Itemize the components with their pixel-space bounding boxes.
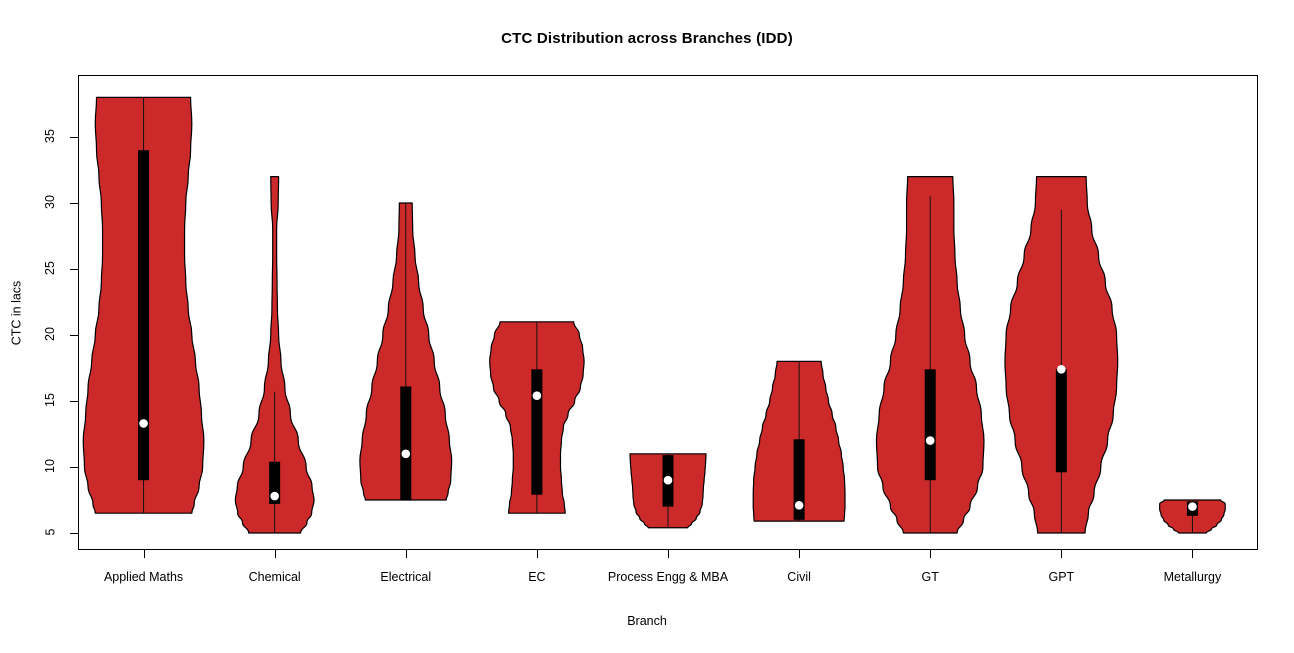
x-tick-mark <box>144 550 145 558</box>
y-tick-label-text: 10 <box>43 459 57 473</box>
y-tick-label: 10 <box>30 459 70 473</box>
x-axis-title: Branch <box>0 614 1294 628</box>
y-tick-mark <box>70 137 78 138</box>
x-tick-mark <box>406 550 407 558</box>
x-tick-mark <box>668 550 669 558</box>
y-tick-label-text: 20 <box>43 327 57 341</box>
y-tick-label-text: 25 <box>43 261 57 275</box>
x-tick-mark <box>1061 550 1062 558</box>
y-tick-label: 35 <box>30 129 70 143</box>
x-tick-label: Applied Maths <box>104 570 183 584</box>
x-tick-label: Electrical <box>380 570 431 584</box>
y-tick-label-text: 15 <box>43 393 57 407</box>
x-tick-label: GT <box>922 570 939 584</box>
y-tick-mark <box>70 203 78 204</box>
x-tick-label: Process Engg & MBA <box>608 570 728 584</box>
x-tick-mark <box>930 550 931 558</box>
y-tick-label: 15 <box>30 393 70 407</box>
y-tick-mark <box>70 269 78 270</box>
x-tick-mark <box>275 550 276 558</box>
y-tick-label: 25 <box>30 261 70 275</box>
x-tick-mark <box>537 550 538 558</box>
y-tick-mark <box>70 335 78 336</box>
chart-title: CTC Distribution across Branches (IDD) <box>0 30 1294 47</box>
y-axis-title: CTC in lacs <box>4 273 28 353</box>
x-tick-label: Civil <box>787 570 811 584</box>
y-tick-label: 20 <box>30 327 70 341</box>
y-tick-label-text: 35 <box>43 129 57 143</box>
y-tick-mark <box>70 401 78 402</box>
y-axis-title-text: CTC in lacs <box>9 280 23 345</box>
x-tick-mark <box>1192 550 1193 558</box>
y-tick-label: 5 <box>30 525 70 539</box>
y-tick-mark <box>70 467 78 468</box>
y-tick-mark <box>70 533 78 534</box>
chart-canvas: CTC Distribution across Branches (IDD) C… <box>0 0 1294 653</box>
x-tick-label: EC <box>528 570 545 584</box>
y-tick-label-text: 30 <box>43 195 57 209</box>
y-tick-label-text: 5 <box>43 529 57 536</box>
y-tick-label: 30 <box>30 195 70 209</box>
plot-frame <box>78 75 1258 550</box>
x-tick-label: Metallurgy <box>1164 570 1222 584</box>
x-tick-label: GPT <box>1048 570 1074 584</box>
x-tick-mark <box>799 550 800 558</box>
x-tick-label: Chemical <box>249 570 301 584</box>
